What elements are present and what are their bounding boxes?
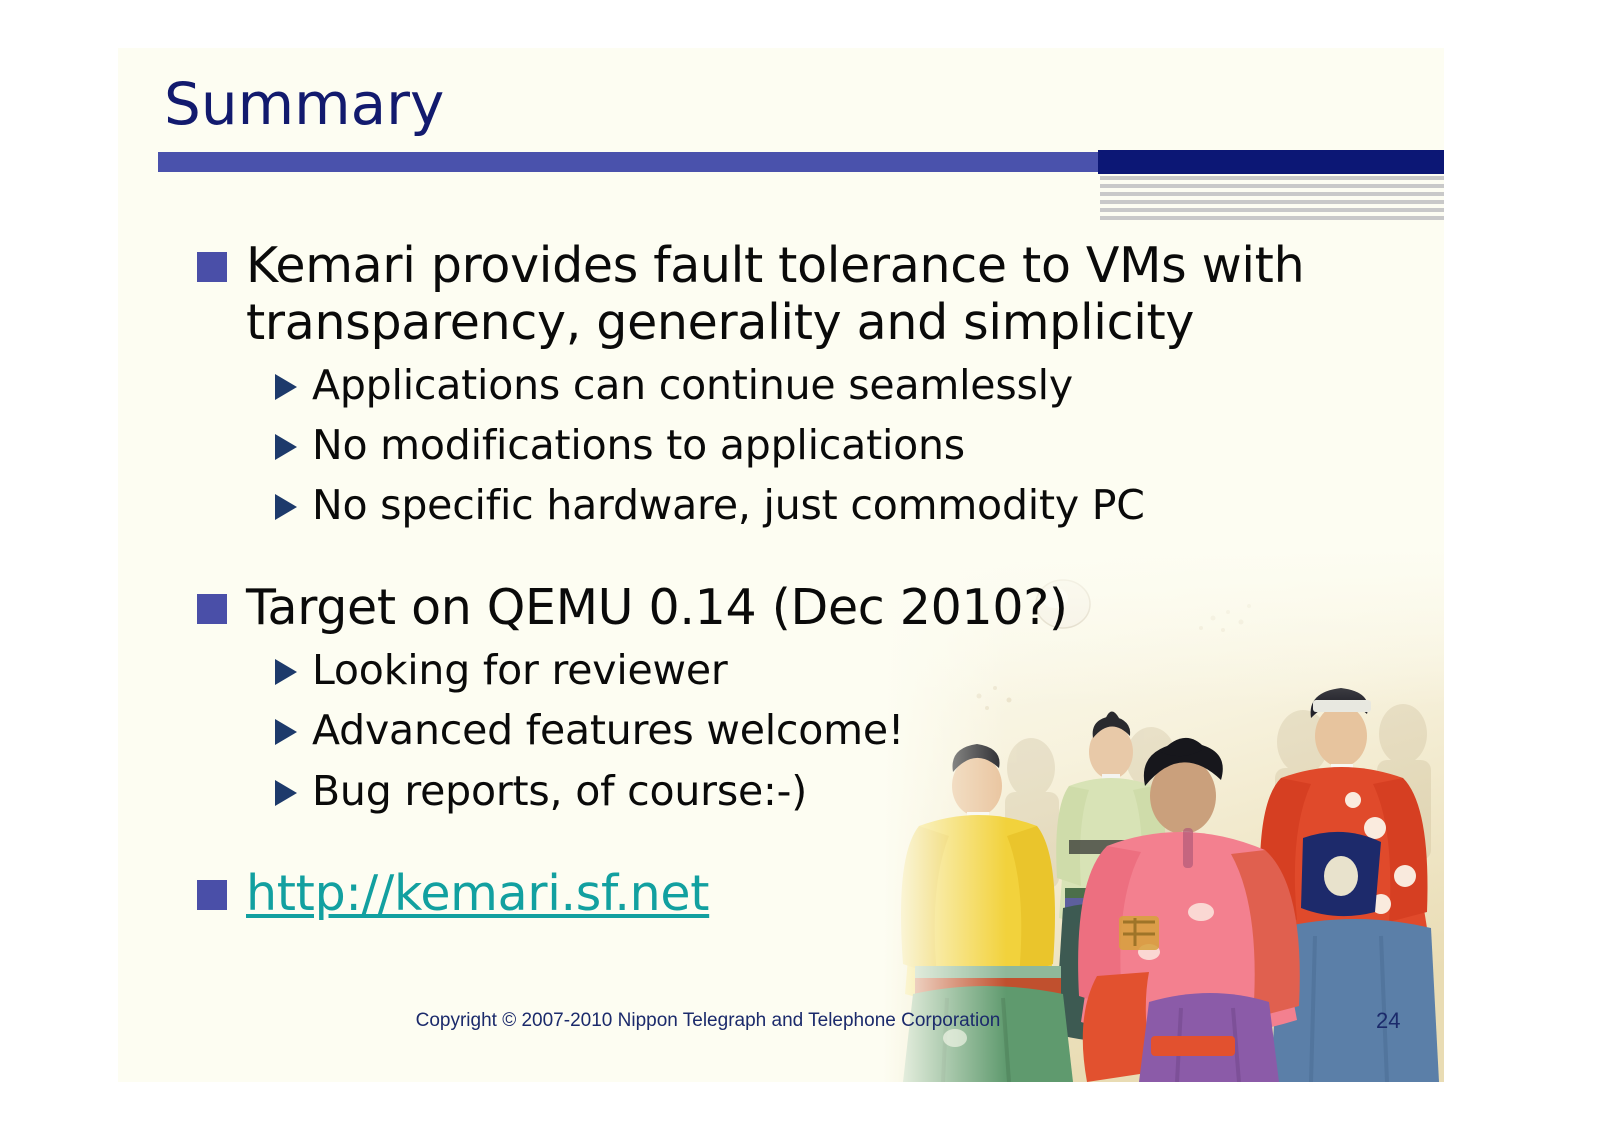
decor-line [1100, 176, 1444, 180]
bullet-level2: No modifications to applications [118, 416, 1444, 474]
bullet-level2: No specific hardware, just commodity PC [118, 476, 1444, 534]
triangle-bullet-icon [275, 780, 297, 806]
bullet-level1-link[interactable]: http://kemari.sf.net [118, 866, 1444, 923]
bullet-text: Bug reports, of course:-) [312, 762, 1444, 820]
header-rule-left [158, 152, 1098, 172]
decor-line [1100, 192, 1444, 196]
page-title: Summary [164, 70, 444, 138]
square-bullet-icon [197, 594, 227, 624]
page-number: 24 [1376, 1008, 1400, 1034]
header-rule-right [1098, 150, 1444, 174]
bullet-text: Kemari provides fault tolerance to VMs w… [246, 238, 1444, 352]
slide-body: Kemari provides fault tolerance to VMs w… [118, 238, 1444, 927]
bullet-level2: Looking for reviewer [118, 641, 1444, 699]
copyright-footer: Copyright © 2007-2010 Nippon Telegraph a… [118, 1010, 1298, 1032]
bullet-level2: Bug reports, of course:-) [118, 762, 1444, 820]
square-bullet-icon [197, 252, 227, 282]
bullet-level1: Target on QEMU 0.14 (Dec 2010?) [118, 580, 1444, 637]
bullet-text: No modifications to applications [312, 416, 1444, 474]
triangle-bullet-icon [275, 374, 297, 400]
triangle-bullet-icon [275, 434, 297, 460]
kemari-url-link[interactable]: http://kemari.sf.net [246, 866, 1444, 923]
triangle-bullet-icon [275, 719, 297, 745]
bullet-level1: Kemari provides fault tolerance to VMs w… [118, 238, 1444, 352]
bullet-text: Looking for reviewer [312, 641, 1444, 699]
header-decor-lines [1100, 176, 1444, 224]
bullet-level2: Advanced features welcome! [118, 701, 1444, 759]
bullet-text: Applications can continue seamlessly [312, 356, 1444, 414]
bullet-text: Advanced features welcome! [312, 701, 1444, 759]
bullet-text: No specific hardware, just commodity PC [312, 476, 1444, 534]
decor-line [1100, 200, 1444, 204]
slide-canvas: Summary [118, 48, 1444, 1082]
decor-line [1100, 184, 1444, 188]
spacer [118, 534, 1444, 580]
bullet-level2: Applications can continue seamlessly [118, 356, 1444, 414]
triangle-bullet-icon [275, 659, 297, 685]
spacer [118, 820, 1444, 866]
decor-line [1100, 216, 1444, 220]
triangle-bullet-icon [275, 494, 297, 520]
bullet-text: Target on QEMU 0.14 (Dec 2010?) [246, 580, 1444, 637]
decor-line [1100, 208, 1444, 212]
square-bullet-icon [197, 880, 227, 910]
